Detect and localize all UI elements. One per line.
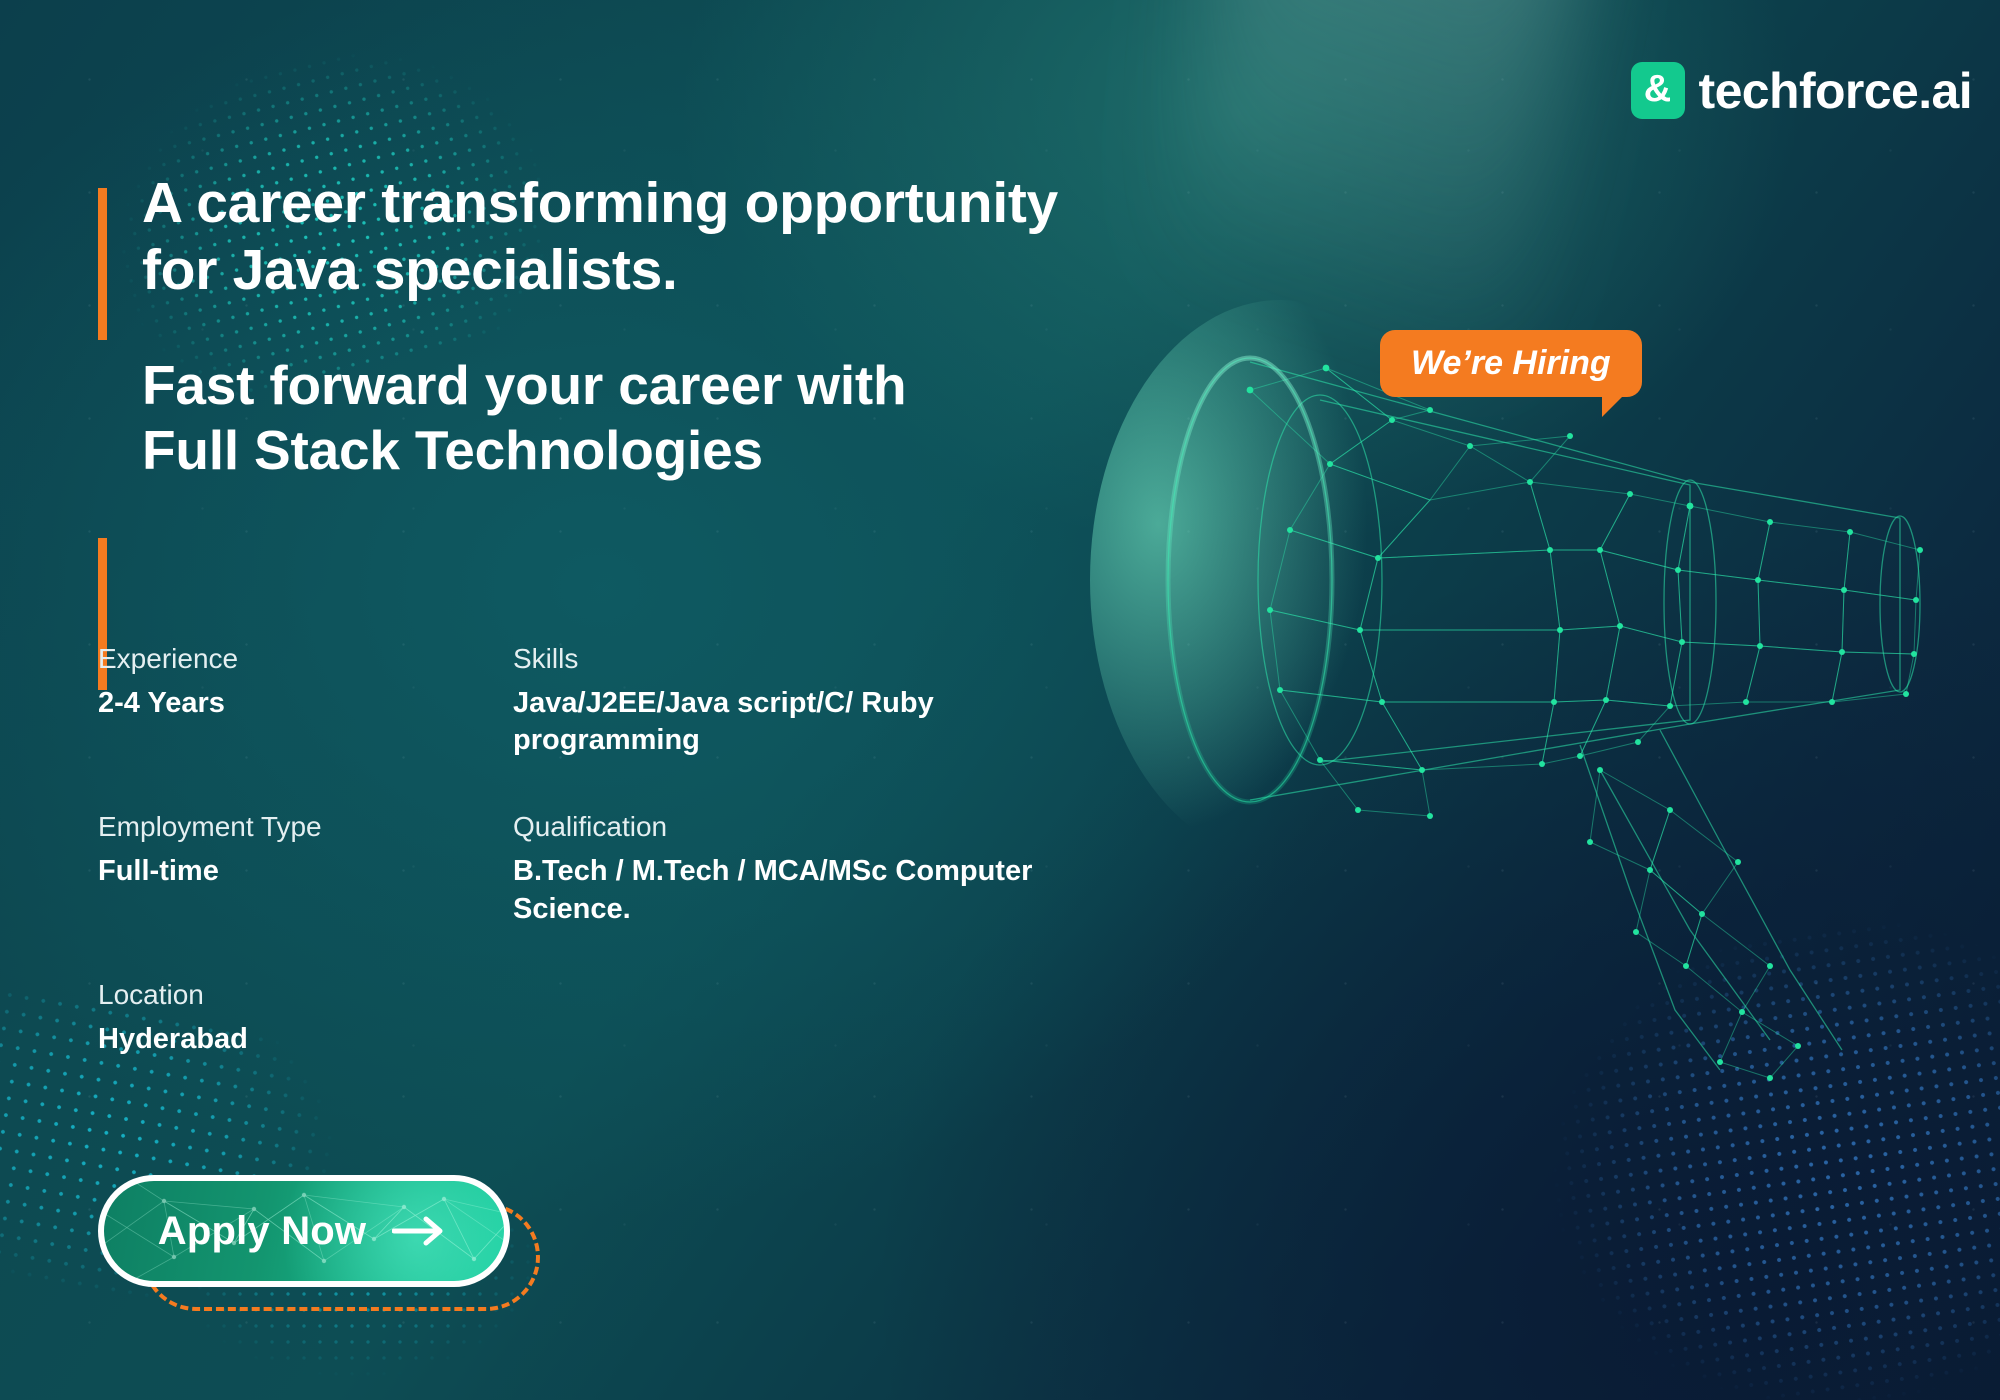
accent-rule-top xyxy=(98,188,107,340)
detail-value: B.Tech / M.Tech / MCA/MSc Computer Scien… xyxy=(513,853,1098,928)
detail-item-experience: Experience 2-4 Years xyxy=(98,640,513,760)
apply-now-button[interactable]: Apply Now xyxy=(98,1175,510,1287)
detail-value: Hyderabad xyxy=(98,1021,513,1059)
subheadline: Fast forward your career with Full Stack… xyxy=(98,353,1108,482)
detail-label: Location xyxy=(98,976,513,1014)
detail-value: 2-4 Years xyxy=(98,685,513,723)
detail-item-employment-type: Employment Type Full-time xyxy=(98,808,513,928)
headline-line-3: Fast forward your career with xyxy=(142,353,1108,417)
headline-line-2: for Java specialists. xyxy=(142,237,1108,304)
detail-value: Full-time xyxy=(98,853,513,891)
light-beam-decoration xyxy=(1123,0,1597,583)
detail-label: Qualification xyxy=(513,808,1098,846)
detail-item-skills: Skills Java/J2EE/Java script/C/ Ruby pro… xyxy=(513,640,1098,760)
ampersand-logo-icon: & xyxy=(1631,62,1685,119)
detail-item-location: Location Hyderabad xyxy=(98,976,513,1058)
brand-logo: & techforce.ai xyxy=(1631,62,1972,119)
arrow-right-icon xyxy=(392,1216,450,1246)
detail-label: Skills xyxy=(513,640,1098,678)
detail-row: Experience 2-4 Years Skills Java/J2EE/Ja… xyxy=(98,640,1098,760)
job-details: Experience 2-4 Years Skills Java/J2EE/Ja… xyxy=(98,640,1098,1107)
apply-cta-wrapper: Apply Now xyxy=(98,1175,538,1310)
halftone-dots-bottom-right-icon xyxy=(1341,890,2000,1400)
detail-item-qualification: Qualification B.Tech / M.Tech / MCA/MSc … xyxy=(513,808,1098,928)
hiring-badge-label: We’re Hiring xyxy=(1411,346,1611,380)
detail-label: Employment Type xyxy=(98,808,513,846)
detail-label: Experience xyxy=(98,640,513,678)
hiring-badge: We’re Hiring xyxy=(1380,330,1642,397)
job-ad-poster: & techforce.ai A career transforming opp… xyxy=(0,0,2000,1400)
headline-line-4: Full Stack Technologies xyxy=(142,418,1108,482)
detail-row: Employment Type Full-time Qualification … xyxy=(98,808,1098,928)
page-title: A career transforming opportunity for Ja… xyxy=(98,170,1108,303)
detail-value: Java/J2EE/Java script/C/ Ruby programmin… xyxy=(513,685,1098,760)
headline-block: A career transforming opportunity for Ja… xyxy=(98,170,1108,482)
brand-name: techforce.ai xyxy=(1699,66,1972,116)
speech-bubble-tail-icon xyxy=(1602,383,1636,417)
apply-now-label: Apply Now xyxy=(158,1211,366,1251)
headline-line-1: A career transforming opportunity xyxy=(142,170,1108,237)
detail-row: Location Hyderabad xyxy=(98,976,1098,1058)
